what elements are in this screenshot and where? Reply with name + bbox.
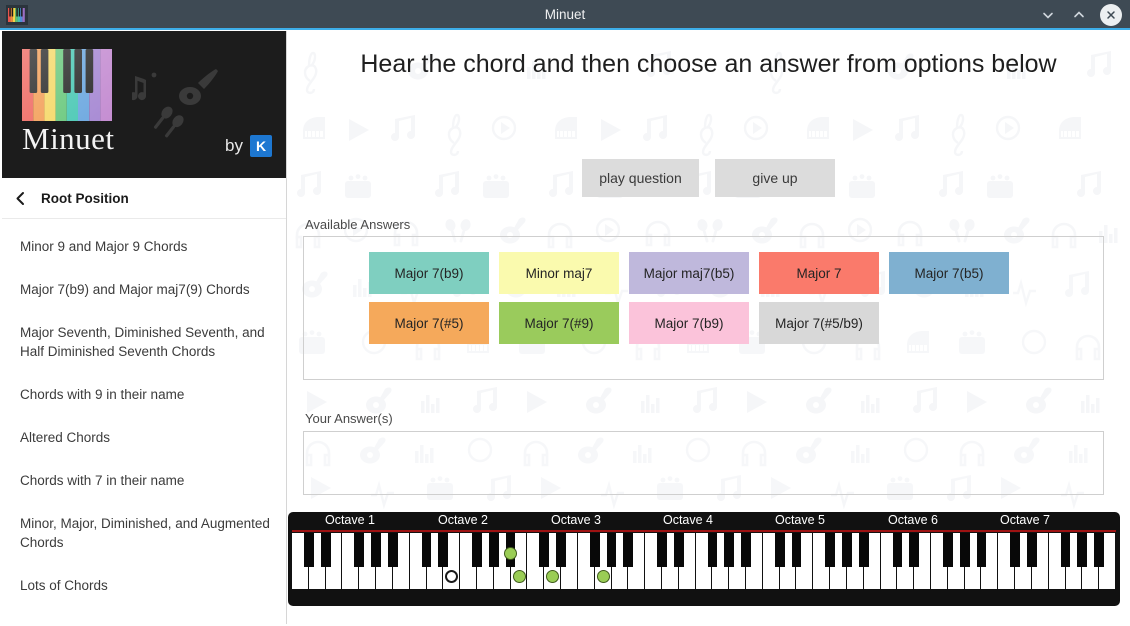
sidebar-item-label: Minor 9 and Major 9 Chords xyxy=(20,239,187,254)
black-key-F#5[interactable] xyxy=(825,533,835,567)
answer-option-major-7-b9-b[interactable]: Major 7(b9) xyxy=(629,302,749,344)
sidebar-item-minor9-major9[interactable]: Minor 9 and Major 9 Chords xyxy=(2,225,286,268)
sidebar-item-label: Major 7(b9) and Major maj7(9) Chords xyxy=(20,282,250,297)
answer-row-2: Major 7(#5) Major 7(#9) Major 7(b9) Majo… xyxy=(369,302,1102,344)
black-key-C#7[interactable] xyxy=(1010,533,1020,567)
sidebar-item-chords-with-9[interactable]: Chords with 9 in their name xyxy=(2,373,286,416)
minimize-icon[interactable] xyxy=(1038,5,1058,25)
black-key-C#5[interactable] xyxy=(775,533,785,567)
black-key-D#1[interactable] xyxy=(321,533,331,567)
logo-wordmark: Minuet xyxy=(22,121,115,157)
sidebar-item-minor-major-dim-aug[interactable]: Minor, Major, Diminished, and Augmented … xyxy=(2,502,286,564)
available-answers-label: Available Answers xyxy=(305,217,410,232)
black-key-D#3[interactable] xyxy=(556,533,566,567)
black-key-A#4[interactable] xyxy=(741,533,751,567)
sidebar-item-label: Chords with 7 in their name xyxy=(20,473,184,488)
sidebar-item-label: Lots of Chords xyxy=(20,578,108,593)
black-key-D#6[interactable] xyxy=(909,533,919,567)
close-icon[interactable] xyxy=(1100,4,1122,26)
black-key-A#6[interactable] xyxy=(977,533,987,567)
sidebar-item-label: Altered Chords xyxy=(20,430,110,445)
answer-option-major-7-sharp5-b9[interactable]: Major 7(#5/b9) xyxy=(759,302,879,344)
your-answers-label: Your Answer(s) xyxy=(305,411,393,426)
sidebar-item-altered-chords[interactable]: Altered Chords xyxy=(2,416,286,459)
vendor-credit: by K xyxy=(225,135,272,157)
answer-row-1: Major 7(b9) Minor maj7 Major maj7(b5) Ma… xyxy=(369,252,1102,294)
question-controls: play question give up xyxy=(287,159,1130,197)
black-key-D#7[interactable] xyxy=(1027,533,1037,567)
sidebar-header-label: Root Position xyxy=(41,191,129,206)
sidebar: Minuet by K Root Position Minor 9 and Ma… xyxy=(2,31,287,624)
black-key-A#1[interactable] xyxy=(388,533,398,567)
instruments-decoration-icon xyxy=(132,69,242,139)
black-key-A#3[interactable] xyxy=(623,533,633,567)
sidebar-header[interactable]: Root Position xyxy=(2,178,286,219)
chevron-left-icon[interactable] xyxy=(14,191,27,206)
kde-logo-icon: K xyxy=(250,135,272,157)
octave-label-5: Octave 5 xyxy=(775,513,825,527)
minuet-window: Minuet xyxy=(0,0,1130,626)
sidebar-item-major7b9[interactable]: Major 7(b9) and Major maj7(9) Chords xyxy=(2,268,286,311)
black-key-D#2[interactable] xyxy=(438,533,448,567)
black-key-D#5[interactable] xyxy=(792,533,802,567)
black-key-G#4[interactable] xyxy=(724,533,734,567)
black-key-G#1[interactable] xyxy=(371,533,381,567)
sidebar-item-major-seventh[interactable]: Major Seventh, Diminished Seventh, and H… xyxy=(2,311,286,373)
play-question-button[interactable]: play question xyxy=(582,159,699,197)
your-answers-box[interactable] xyxy=(303,431,1104,495)
sidebar-list: Minor 9 and Major 9 Chords Major 7(b9) a… xyxy=(2,219,286,607)
answer-option-major-7-b9-a[interactable]: Major 7(b9) xyxy=(369,252,489,294)
title-bar: Minuet xyxy=(0,0,1130,30)
answer-option-major-7[interactable]: Major 7 xyxy=(759,252,879,294)
minuet-logo-keys-icon xyxy=(22,49,112,121)
black-key-F#3[interactable] xyxy=(590,533,600,567)
window-controls xyxy=(1038,0,1122,30)
answer-option-major-maj7-b5[interactable]: Major maj7(b5) xyxy=(629,252,749,294)
octave-label-1: Octave 1 xyxy=(325,513,375,527)
black-key-C#6[interactable] xyxy=(893,533,903,567)
key-marker-G3 xyxy=(597,570,610,583)
black-key-C#3[interactable] xyxy=(539,533,549,567)
answer-option-major-7-sharp5[interactable]: Major 7(#5) xyxy=(369,302,489,344)
app-icon xyxy=(6,5,28,25)
black-key-A#7[interactable] xyxy=(1094,533,1104,567)
black-key-G#2[interactable] xyxy=(489,533,499,567)
sidebar-item-label: Major Seventh, Diminished Seventh, and H… xyxy=(20,325,265,359)
octave-labels: Octave 1 Octave 2 Octave 3 Octave 4 Octa… xyxy=(288,512,1120,529)
black-key-C#4[interactable] xyxy=(657,533,667,567)
page-title: Hear the chord and then choose an answer… xyxy=(287,50,1130,79)
black-key-D#4[interactable] xyxy=(674,533,684,567)
sidebar-item-label: Minor, Major, Diminished, and Augmented … xyxy=(20,516,270,550)
answer-option-minor-maj7[interactable]: Minor maj7 xyxy=(499,252,619,294)
answer-option-major-7-sharp9[interactable]: Major 7(#9) xyxy=(499,302,619,344)
sidebar-item-lots-of-chords[interactable]: Lots of Chords xyxy=(2,564,286,607)
keyboard-keys[interactable] xyxy=(292,533,1116,589)
keyboard-accent-line xyxy=(292,530,1116,532)
octave-label-3: Octave 3 xyxy=(551,513,601,527)
black-key-C#2[interactable] xyxy=(422,533,432,567)
black-key-F#7[interactable] xyxy=(1061,533,1071,567)
piano-keyboard[interactable]: Octave 1 Octave 2 Octave 3 Octave 4 Octa… xyxy=(288,512,1120,606)
black-key-F#2[interactable] xyxy=(472,533,482,567)
by-label: by xyxy=(225,136,243,156)
octave-label-7: Octave 7 xyxy=(1000,513,1050,527)
black-key-F#6[interactable] xyxy=(943,533,953,567)
black-key-G#7[interactable] xyxy=(1077,533,1087,567)
window-title: Minuet xyxy=(0,0,1130,30)
octave-label-6: Octave 6 xyxy=(888,513,938,527)
black-key-G#6[interactable] xyxy=(960,533,970,567)
maximize-icon[interactable] xyxy=(1069,5,1089,25)
octave-label-2: Octave 2 xyxy=(438,513,488,527)
sidebar-item-chords-with-7[interactable]: Chords with 7 in their name xyxy=(2,459,286,502)
key-marker-B2 xyxy=(513,570,526,583)
logo-panel: Minuet by K xyxy=(2,31,286,178)
black-key-G#3[interactable] xyxy=(607,533,617,567)
black-key-F#4[interactable] xyxy=(708,533,718,567)
black-key-F#1[interactable] xyxy=(354,533,364,567)
black-key-C#1[interactable] xyxy=(304,533,314,567)
octave-label-4: Octave 4 xyxy=(663,513,713,527)
give-up-button[interactable]: give up xyxy=(715,159,835,197)
answer-option-major-7-b5[interactable]: Major 7(b5) xyxy=(889,252,1009,294)
black-key-A#5[interactable] xyxy=(859,533,869,567)
black-key-G#5[interactable] xyxy=(842,533,852,567)
main-panel: Hear the chord and then choose an answer… xyxy=(287,31,1130,624)
available-answers-grid: Major 7(b9) Minor maj7 Major maj7(b5) Ma… xyxy=(303,236,1102,378)
sidebar-item-label: Chords with 9 in their name xyxy=(20,387,184,402)
